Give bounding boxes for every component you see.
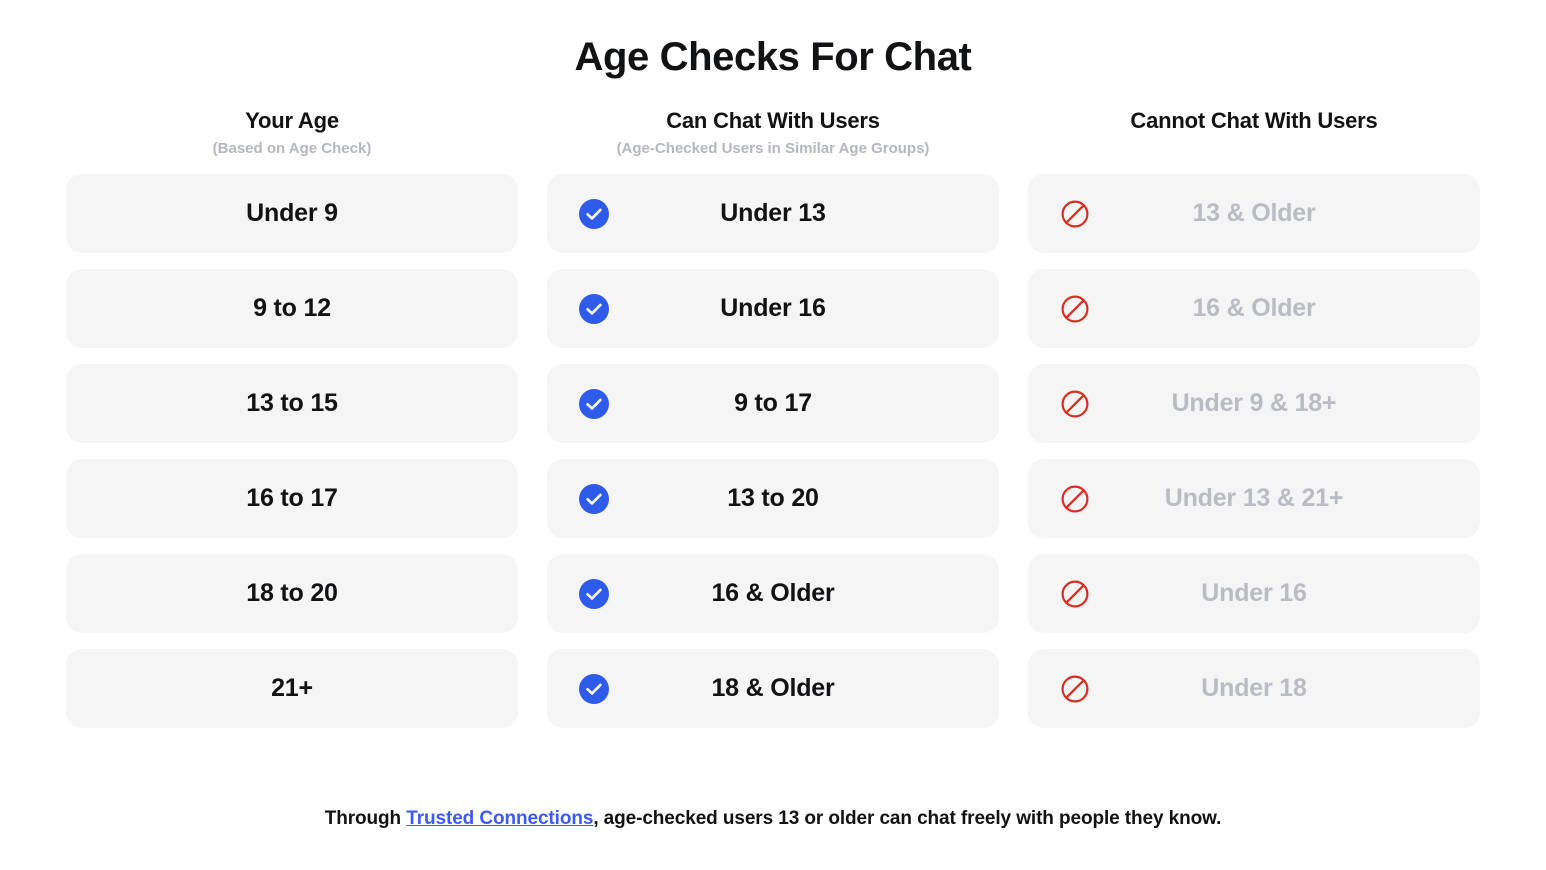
your-age-value: 21+: [271, 676, 313, 701]
age-checks-grid: Your Age (Based on Age Check) Under 9 9 …: [0, 106, 1546, 728]
prohibited-icon: [1060, 484, 1090, 514]
check-circle-icon: [579, 199, 609, 229]
can-chat-value: 18 & Older: [711, 676, 834, 701]
column-title: Cannot Chat With Users: [1028, 106, 1480, 136]
column-your-age: Your Age (Based on Age Check) Under 9 9 …: [66, 106, 518, 728]
your-age-value: 9 to 12: [253, 296, 331, 321]
footnote: Through Trusted Connections, age-checked…: [0, 806, 1546, 832]
your-age-value: 16 to 17: [246, 486, 338, 511]
can-chat-value: 16 & Older: [711, 581, 834, 606]
column-cells-cannot-chat: 13 & Older 16 & Older: [1028, 174, 1480, 728]
table-row: 13 to 15: [66, 364, 518, 443]
cannot-chat-value: 13 & Older: [1192, 201, 1315, 226]
cannot-chat-value: Under 16: [1201, 581, 1306, 606]
cannot-chat-value: Under 9 & 18+: [1172, 391, 1337, 416]
cannot-chat-value: Under 18: [1201, 676, 1306, 701]
can-chat-value: Under 16: [720, 296, 825, 321]
table-row: Under 9 & 18+: [1028, 364, 1480, 443]
your-age-value: 13 to 15: [246, 391, 338, 416]
table-row: 9 to 17: [547, 364, 999, 443]
column-cannot-chat: Cannot Chat With Users 13 & Older: [1028, 106, 1480, 728]
prohibited-icon: [1060, 199, 1090, 229]
prohibited-icon: [1060, 294, 1090, 324]
cannot-chat-value: Under 13 & 21+: [1165, 486, 1344, 511]
column-subtitle: [1028, 138, 1480, 160]
table-row: 18 to 20: [66, 554, 518, 633]
your-age-value: 18 to 20: [246, 581, 338, 606]
table-row: 9 to 12: [66, 269, 518, 348]
table-row: 16 & Older: [547, 554, 999, 633]
table-row: Under 16: [1028, 554, 1480, 633]
page-title: Age Checks For Chat: [0, 0, 1546, 82]
prohibited-icon: [1060, 579, 1090, 609]
check-circle-icon: [579, 674, 609, 704]
check-circle-icon: [579, 389, 609, 419]
table-row: Under 13: [547, 174, 999, 253]
column-subtitle: (Based on Age Check): [66, 138, 518, 160]
check-circle-icon: [579, 294, 609, 324]
table-row: Under 18: [1028, 649, 1480, 728]
table-row: 13 to 20: [547, 459, 999, 538]
footnote-prefix: Through: [325, 808, 407, 829]
column-cells-can-chat: Under 13 Under 16: [547, 174, 999, 728]
column-title: Can Chat With Users: [547, 106, 999, 136]
your-age-value: Under 9: [246, 201, 338, 226]
table-row: Under 9: [66, 174, 518, 253]
table-row: 18 & Older: [547, 649, 999, 728]
table-row: 21+: [66, 649, 518, 728]
footnote-suffix: , age-checked users 13 or older can chat…: [593, 808, 1221, 829]
cannot-chat-value: 16 & Older: [1192, 296, 1315, 321]
column-title: Your Age: [66, 106, 518, 136]
can-chat-value: 13 to 20: [727, 486, 819, 511]
can-chat-value: Under 13: [720, 201, 825, 226]
table-row: 16 to 17: [66, 459, 518, 538]
column-header-your-age: Your Age (Based on Age Check): [66, 106, 518, 174]
column-header-cannot-chat: Cannot Chat With Users: [1028, 106, 1480, 174]
column-cells-your-age: Under 9 9 to 12 13 to 15 16 to 17 18 to …: [66, 174, 518, 728]
column-can-chat: Can Chat With Users (Age-Checked Users i…: [547, 106, 999, 728]
column-subtitle: (Age-Checked Users in Similar Age Groups…: [547, 138, 999, 160]
check-circle-icon: [579, 484, 609, 514]
prohibited-icon: [1060, 389, 1090, 419]
table-row: 16 & Older: [1028, 269, 1480, 348]
trusted-connections-link[interactable]: Trusted Connections: [406, 808, 593, 829]
table-row: 13 & Older: [1028, 174, 1480, 253]
check-circle-icon: [579, 579, 609, 609]
age-checks-infographic: Age Checks For Chat Your Age (Based on A…: [0, 0, 1546, 870]
table-row: Under 13 & 21+: [1028, 459, 1480, 538]
column-header-can-chat: Can Chat With Users (Age-Checked Users i…: [547, 106, 999, 174]
can-chat-value: 9 to 17: [734, 391, 812, 416]
table-row: Under 16: [547, 269, 999, 348]
prohibited-icon: [1060, 674, 1090, 704]
